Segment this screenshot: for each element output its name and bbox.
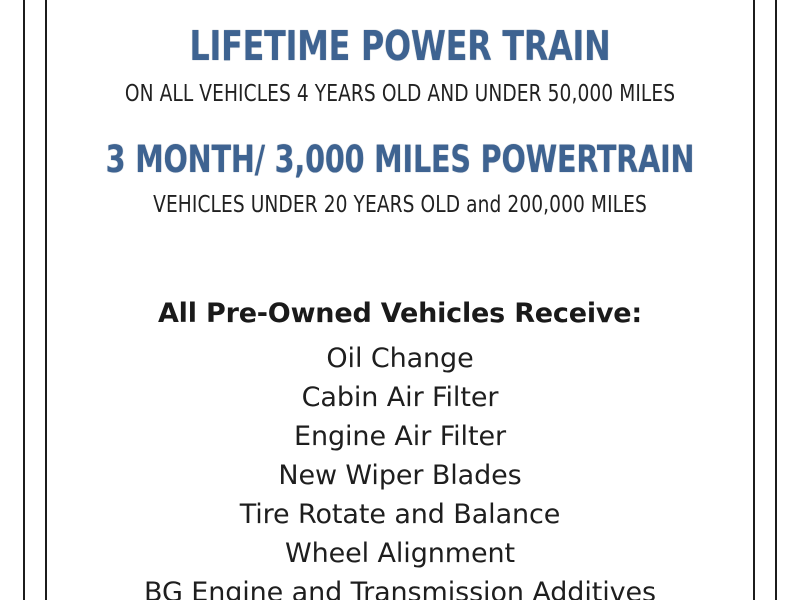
frame-rule-right-outer <box>775 0 777 600</box>
service-item: Engine Air Filter <box>47 417 753 456</box>
flyer-canvas: LIFETIME POWER TRAIN ON ALL VEHICLES 4 Y… <box>0 0 800 600</box>
service-item: Cabin Air Filter <box>47 378 753 417</box>
offer-headline-lifetime-powertrain: LIFETIME POWER TRAIN <box>96 26 703 67</box>
service-item: BG Engine and Transmission Additives <box>47 573 753 600</box>
flyer-content: LIFETIME POWER TRAIN ON ALL VEHICLES 4 Y… <box>47 0 753 600</box>
service-item: Tire Rotate and Balance <box>47 495 753 534</box>
services-heading: All Pre-Owned Vehicles Receive: <box>47 300 753 327</box>
frame-rule-right-inner <box>753 0 755 600</box>
service-item: New Wiper Blades <box>47 456 753 495</box>
offer-headline-3month-powertrain: 3 MONTH/ 3,000 MILES POWERTRAIN <box>96 141 703 178</box>
offer-subline-3month-powertrain: VEHICLES UNDER 20 YEARS OLD and 200,000 … <box>89 193 710 217</box>
service-item: Oil Change <box>47 339 753 378</box>
services-list: Oil Change Cabin Air Filter Engine Air F… <box>47 339 753 600</box>
service-item: Wheel Alignment <box>47 534 753 573</box>
offer-subline-lifetime-powertrain: ON ALL VEHICLES 4 YEARS OLD AND UNDER 50… <box>89 82 710 106</box>
frame-rule-left-outer <box>23 0 25 600</box>
